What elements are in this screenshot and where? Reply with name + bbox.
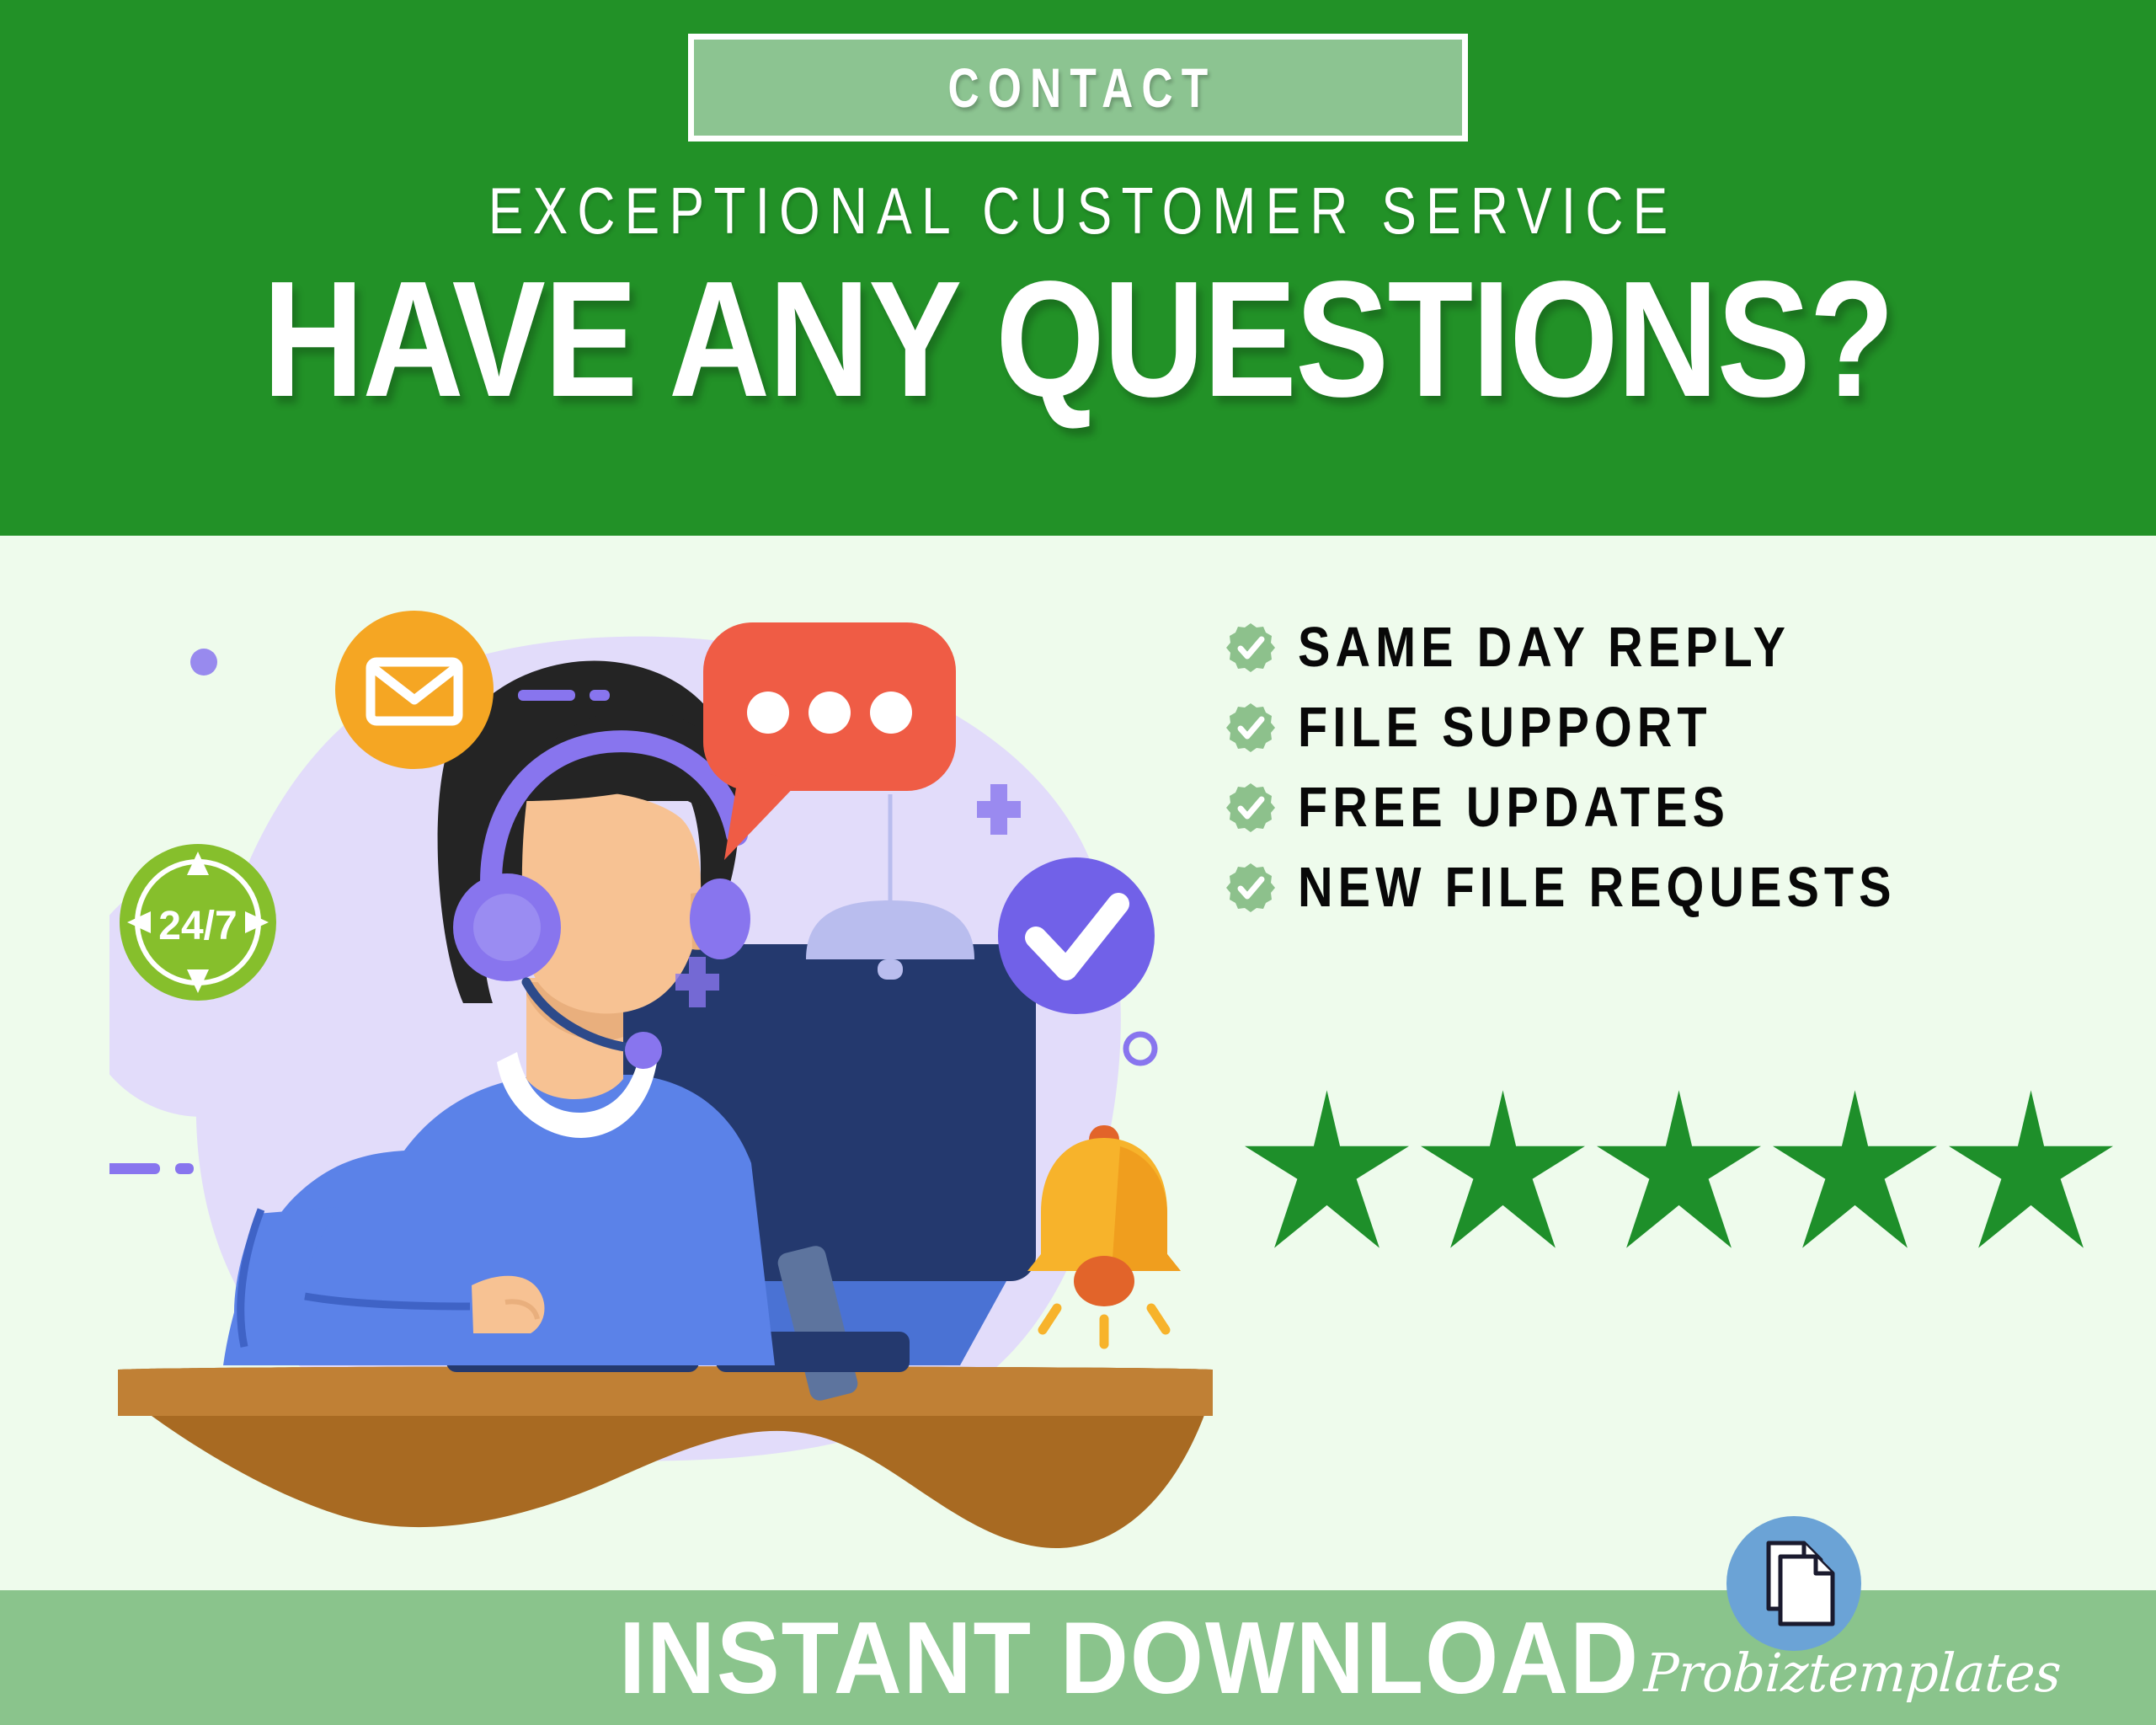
- contact-badge: CONTACT: [688, 34, 1468, 142]
- contact-badge-label: CONTACT: [940, 56, 1217, 120]
- feature-item: NEW FILE REQUESTS: [1225, 847, 1993, 927]
- feature-item: SAME DAY REPLY: [1225, 607, 1993, 687]
- feature-label: NEW FILE REQUESTS: [1298, 855, 1897, 920]
- deco-dash: [175, 1163, 194, 1174]
- feature-list: SAME DAY REPLY FILE SUPPORT: [1225, 607, 1993, 927]
- check-badge-icon: [1225, 702, 1276, 753]
- deco-dash: [518, 690, 575, 701]
- desk-top: [118, 1366, 1213, 1416]
- deco-ring: [1126, 1034, 1155, 1063]
- star-icon: [1245, 1089, 1409, 1249]
- header-band: CONTACT EXCEPTIONAL CUSTOMER SERVICE HAV…: [0, 0, 2156, 536]
- headset-earcup-inner: [473, 894, 541, 961]
- star-rating: [1245, 1089, 2113, 1249]
- instant-download-label: INSTANT DOWNLOAD: [619, 1599, 1640, 1717]
- poster-canvas: CONTACT EXCEPTIONAL CUSTOMER SERVICE HAV…: [0, 0, 2156, 1725]
- star-icon: [1597, 1089, 1761, 1249]
- support-illustration: 24/7: [109, 536, 1221, 1590]
- check-badge-icon: [1225, 622, 1276, 673]
- feature-label: FILE SUPPORT: [1298, 695, 1712, 760]
- feature-label: FREE UPDATES: [1298, 775, 1730, 840]
- brand-wordmark: Probiztemplates: [1642, 1642, 2009, 1705]
- star-icon: [1421, 1089, 1585, 1249]
- feature-label: SAME DAY REPLY: [1298, 615, 1790, 680]
- star-icon: [1949, 1089, 2113, 1249]
- stacked-documents-icon: [1726, 1516, 1861, 1651]
- body-area: 24/7: [0, 536, 2156, 1590]
- email-icon: [335, 611, 494, 769]
- deco-dot: [190, 649, 217, 676]
- check-badge-icon: [1225, 782, 1276, 833]
- person-hand: [472, 1276, 544, 1333]
- feature-item: FREE UPDATES: [1225, 767, 1993, 847]
- header-subtitle: EXCEPTIONAL CUSTOMER SERVICE: [216, 173, 1940, 249]
- headset-earcup-right: [690, 879, 750, 959]
- header-headline: HAVE ANY QUESTIONS?: [162, 253, 1994, 426]
- deco-dash: [109, 1163, 160, 1174]
- deco-dash: [590, 690, 610, 701]
- headset-mic: [625, 1032, 662, 1069]
- feature-item: FILE SUPPORT: [1225, 687, 1993, 767]
- badge-24-7-icon: 24/7: [120, 844, 276, 1001]
- star-icon: [1773, 1089, 1937, 1249]
- check-badge-icon: [1225, 862, 1276, 913]
- svg-text:24/7: 24/7: [158, 904, 237, 948]
- check-circle-icon: [998, 857, 1155, 1014]
- brand-logo: Probiztemplates: [1646, 1516, 2009, 1718]
